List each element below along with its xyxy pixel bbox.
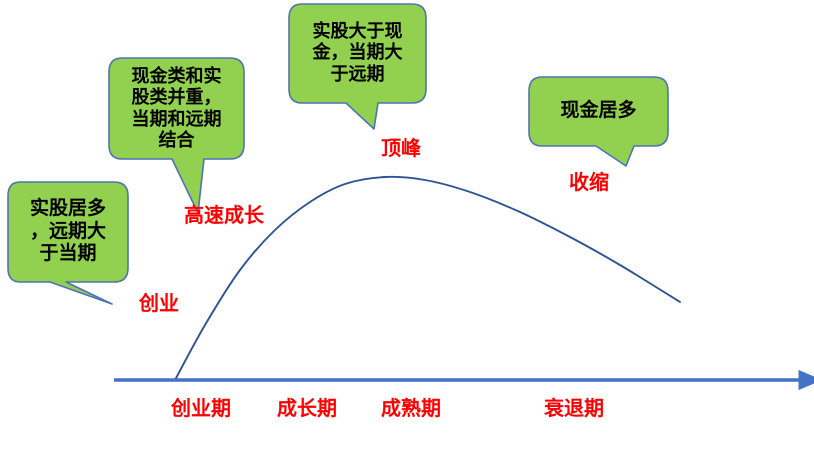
phase-note-decline: 收缩 (569, 173, 609, 193)
axis-label-decline: 衰退期 (544, 399, 604, 419)
axis-label-startup: 创业期 (171, 399, 231, 419)
callout-peak-label: 实股大于现 金，当期大 于远期 (286, 1, 429, 105)
axis-label-maturity: 成熟期 (381, 399, 441, 419)
phase-note-peak: 顶峰 (381, 139, 421, 159)
lifecycle-diagram: 实股居多 ，远期大 于当期 现金类和实 股类并重， 当期和远期 结合 实股大于现… (0, 0, 814, 457)
callout-growth-label: 现金类和实 股类并重， 当期和远期 结合 (106, 55, 247, 162)
callout-decline-label: 现金居多 (526, 74, 671, 148)
axis-label-growth: 成长期 (277, 399, 337, 419)
phase-note-startup: 创业 (139, 294, 179, 314)
callout-growth[interactable]: 现金类和实 股类并重， 当期和远期 结合 (106, 55, 256, 225)
callout-decline[interactable]: 现金居多 (526, 74, 676, 174)
phase-note-growth: 高速成长 (184, 206, 264, 226)
callout-peak[interactable]: 实股大于现 金，当期大 于远期 (286, 1, 431, 136)
